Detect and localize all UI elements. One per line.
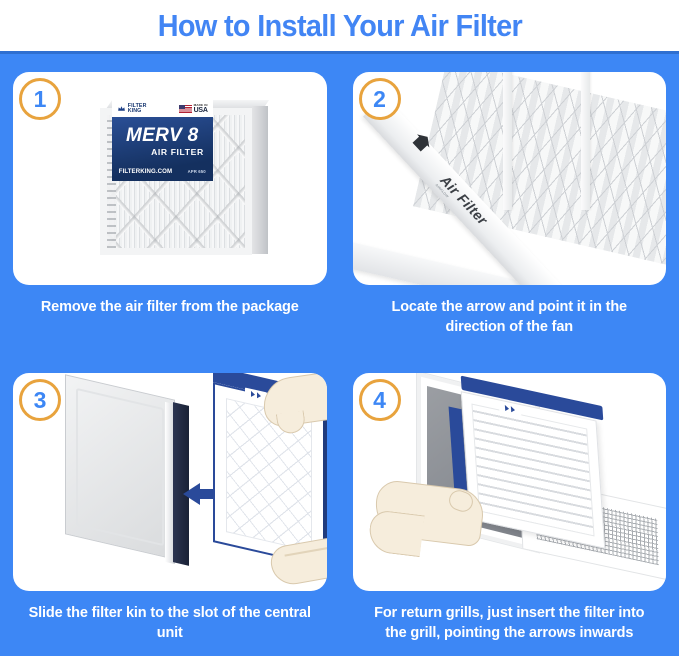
page-title: How to Install Your Air Filter <box>157 10 521 41</box>
steps-grid: 1 <box>0 54 679 656</box>
step-2-badge: 2 <box>359 78 401 120</box>
step-1-badge: 1 <box>19 78 61 120</box>
filter-corner-photo: Air Filter AIRFLOW <box>385 72 667 285</box>
step-3-badge: 3 <box>19 379 61 421</box>
step-4-number: 4 <box>373 389 386 412</box>
usa-flag-icon <box>179 105 192 113</box>
step-3-number: 3 <box>34 389 47 412</box>
step-2-caption: Locate the arrow and point it in the dir… <box>353 298 667 337</box>
step-panel-1: 1 <box>0 54 340 355</box>
made-in-usa-lockup: MADE IN USA <box>179 104 208 114</box>
label-apr-rating: APR 650 <box>188 169 206 174</box>
step-panel-4: 4 For return grills, just insert the fil… <box>340 355 679 656</box>
step-4-badge: 4 <box>359 379 401 421</box>
central-unit-slot <box>65 374 175 559</box>
crown-icon <box>117 104 126 113</box>
brand-text: FILTER KING <box>128 104 147 115</box>
step-panel-3: 3 <box>0 355 340 656</box>
filter-side-face <box>252 106 268 254</box>
step-4-card: 4 <box>353 373 667 591</box>
step-4-caption: For return grills, just insert the filte… <box>353 604 667 643</box>
filter-rib-1 <box>503 72 512 210</box>
label-blue-block: MERV 8 AIR FILTER FILTERKING.COM APR 650 <box>112 117 213 181</box>
filter-rib-2 <box>581 72 590 210</box>
step-2-number: 2 <box>373 88 386 111</box>
step-3-card: 3 <box>13 373 327 591</box>
step-1-number: 1 <box>34 88 47 111</box>
step-2-card: 2 A <box>353 72 667 285</box>
step-1-card: 1 <box>13 72 327 285</box>
merv-rating: MERV 8 <box>119 127 206 145</box>
brand-line-2: KING <box>128 109 147 114</box>
made-in-usa-text: MADE IN USA <box>194 104 208 114</box>
brand-lockup: FILTER KING <box>117 104 147 115</box>
label-brand-row: FILTER KING MADE IN USA <box>117 104 208 115</box>
step-1-caption: Remove the air filter from the package <box>13 298 327 318</box>
air-filter-product-photo: FILTER KING MADE IN USA <box>100 98 268 256</box>
infographic-poster: How to Install Your Air Filter 1 <box>0 0 679 656</box>
step-3-caption: Slide the filter kin to the slot of the … <box>13 604 327 643</box>
label-footer: FILTERKING.COM APR 650 <box>119 168 206 175</box>
label-subtitle: AIR FILTER <box>119 147 206 157</box>
product-label: FILTER KING MADE IN USA <box>112 100 213 182</box>
step-panel-2: 2 A <box>340 54 679 355</box>
header-band: How to Install Your Air Filter <box>0 0 679 51</box>
label-website: FILTERKING.COM <box>119 168 172 175</box>
country-label: USA <box>194 107 208 114</box>
